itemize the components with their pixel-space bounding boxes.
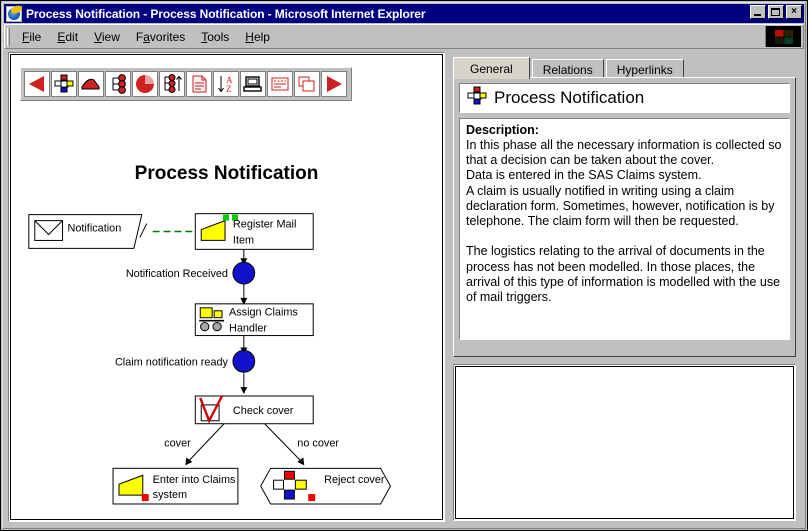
menu-item-edit[interactable]: Edit [49,28,86,46]
diagram-pane: A Z [8,52,445,522]
description-label: Description: [466,123,783,138]
no-cover-label: no cover [297,438,339,450]
close-button[interactable]: × [786,5,802,19]
minimize-button[interactable] [750,5,766,19]
tab-hyperlinks[interactable]: Hyperlinks [606,59,684,79]
svg-text:Register Mail: Register Mail [233,219,296,231]
svg-text:Notification Received: Notification Received [126,268,228,280]
windows-flag-icon[interactable] [765,26,801,47]
properties-pane: General Relations Hyperlinks [451,52,800,522]
window-controls: × [750,5,802,19]
diagram-node-check-cover: Check cover [195,396,313,424]
close-icon: × [787,6,801,18]
lower-detail-pane [453,364,796,521]
tab-strip: General Relations Hyperlinks [453,57,686,79]
description-text: In this phase all the necessary informat… [466,138,783,305]
tab-general[interactable]: General [453,57,530,79]
diagram-node-reject-cover: Reject cover [261,468,391,504]
ie-document-icon [6,6,22,22]
svg-text:Enter into Claims: Enter into Claims [153,474,236,486]
diagram-node-event-2: Claim notification ready [115,350,255,372]
svg-text:Claim notification ready: Claim notification ready [115,356,229,368]
svg-text:Assign Claims: Assign Claims [229,307,298,319]
diagram-node-enter-claims: Enter into Claims system [113,468,238,504]
diagram-canvas: A Z [10,54,443,520]
tab-panel-general: Process Notification Description: In thi… [453,77,796,357]
colored-cross-nodes-icon [466,86,488,111]
tab-relations[interactable]: Relations [532,59,604,79]
lower-detail-canvas [455,366,794,519]
svg-text:Item: Item [233,234,254,246]
cover-label: cover [164,438,191,450]
trigger-connector [140,224,204,238]
menu-item-help[interactable]: Help [237,28,278,46]
diagram-node-notification: Notification [29,215,142,249]
menu-item-favorites[interactable]: Favorites [128,28,193,46]
maximize-button[interactable] [768,5,784,19]
svg-text:Check cover: Check cover [233,405,294,417]
menu-item-tools[interactable]: Tools [193,28,237,46]
menu-item-view[interactable]: View [86,28,128,46]
content-area: A Z [4,50,804,526]
object-title: Process Notification [494,88,644,108]
menu-bar: File Edit View Favorites Tools Help [4,24,804,49]
window-title: Process Notification - Process Notificat… [26,7,425,21]
description-box: Description: In this phase all the neces… [459,118,790,340]
svg-text:system: system [153,489,187,501]
browser-window: Process Notification - Process Notificat… [0,0,808,531]
menu-item-file[interactable]: File [14,28,49,46]
svg-text:Notification: Notification [67,223,121,235]
svg-text:Handler: Handler [229,323,267,335]
diagram-node-register-mail: Register Mail Item [195,214,313,250]
object-header: Process Notification [459,83,790,113]
diagram-node-assign-claims: Assign Claims Handler [195,304,313,336]
diagram-node-event-1: Notification Received [126,262,255,284]
menu-drag-handle[interactable] [7,28,10,46]
process-diagram: Notification Register Mail Item Notifica… [11,55,442,519]
title-bar: Process Notification - Process Notificat… [4,4,804,23]
svg-text:Reject cover: Reject cover [324,474,385,486]
